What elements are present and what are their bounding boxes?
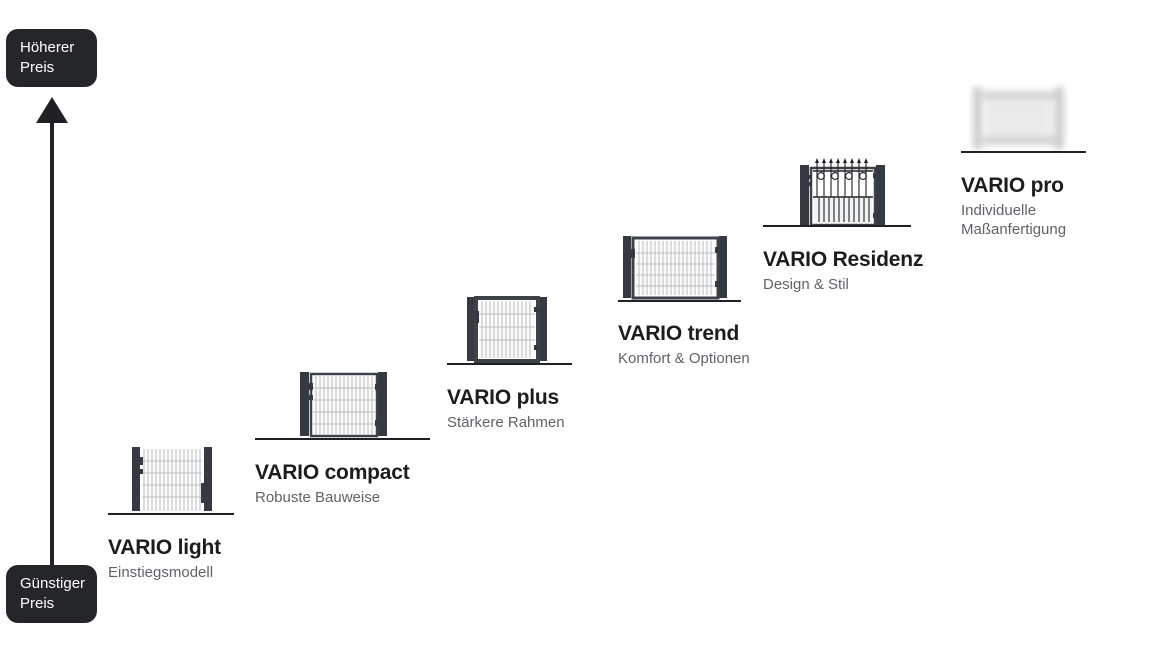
ground-line: [108, 513, 234, 515]
step-subtitle: Stärkere Rahmen: [447, 413, 572, 432]
step-title: VARIO Residenz: [763, 248, 923, 272]
ornamental-gate-icon: [763, 157, 911, 227]
mesh-gate-icon: [108, 443, 238, 515]
step-subtitle: Robuste Bauweise: [255, 488, 430, 507]
ground-line: [763, 225, 911, 227]
gate-image-vario-trend: [618, 233, 741, 301]
step-subtitle: Design & Stil: [763, 275, 923, 294]
mesh-gate-blurred-icon: [961, 75, 1086, 153]
mesh-gate-wide-icon: [618, 233, 741, 301]
step-title: VARIO compact: [255, 461, 430, 485]
product-step-vario-residenz[interactable]: VARIO Residenz Design & Stil: [763, 157, 923, 294]
step-title: VARIO light: [108, 536, 238, 560]
axis-label-higher-price: Höherer Preis: [6, 29, 97, 87]
mesh-gate-heavy-frame-icon: [447, 293, 572, 365]
ground-line: [255, 438, 430, 440]
product-step-vario-trend[interactable]: VARIO trend Komfort & Optionen: [618, 233, 750, 368]
mesh-gate-framed-icon: [255, 368, 430, 440]
product-step-vario-plus[interactable]: VARIO plus Stärkere Rahmen: [447, 293, 572, 432]
step-subtitle: Individuelle Maßanfertigung: [961, 201, 1086, 239]
product-step-vario-light[interactable]: VARIO light Einstiegsmodell: [108, 443, 238, 582]
ground-line: [447, 363, 572, 365]
axis-shaft: [50, 115, 54, 570]
gate-image-vario-compact: [255, 368, 430, 440]
axis-label-lower-price: Günstiger Preis: [6, 565, 97, 623]
product-step-vario-compact[interactable]: VARIO compact Robuste Bauweise: [255, 368, 430, 507]
gate-image-vario-residenz: [763, 157, 911, 227]
gate-image-vario-plus: [447, 293, 572, 365]
step-title: VARIO pro: [961, 174, 1086, 198]
ground-line: [961, 151, 1086, 153]
ground-line: [618, 300, 741, 302]
gate-image-vario-pro: [961, 75, 1086, 153]
gate-image-vario-light: [108, 443, 238, 515]
step-subtitle: Komfort & Optionen: [618, 349, 750, 368]
step-title: VARIO trend: [618, 322, 750, 346]
step-subtitle: Einstiegsmodell: [108, 563, 238, 582]
step-title: VARIO plus: [447, 386, 572, 410]
price-axis: Höherer Preis Günstiger Preis: [0, 0, 110, 650]
product-step-vario-pro[interactable]: VARIO pro Individuelle Maßanfertigung: [961, 75, 1086, 239]
